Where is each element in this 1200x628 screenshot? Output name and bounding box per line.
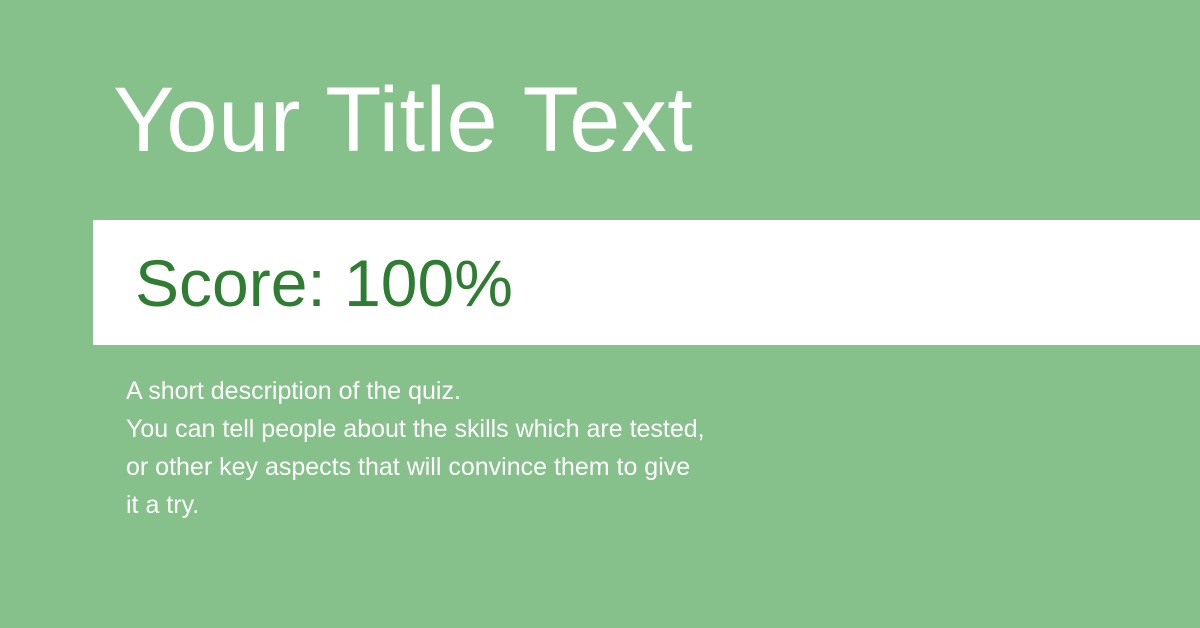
description-line-3: or other key aspects that will convince … <box>126 448 766 486</box>
quiz-description: A short description of the quiz. You can… <box>126 372 766 524</box>
quiz-result-card: Your Title Text Score: 100% A short desc… <box>0 0 1200 628</box>
description-line-2: You can tell people about the skills whi… <box>126 410 766 448</box>
score-value: Score: 100% <box>135 250 513 316</box>
page-title: Your Title Text <box>113 74 693 166</box>
description-line-4: it a try. <box>126 486 766 524</box>
score-banner: Score: 100% <box>93 220 1200 345</box>
description-line-1: A short description of the quiz. <box>126 372 766 410</box>
